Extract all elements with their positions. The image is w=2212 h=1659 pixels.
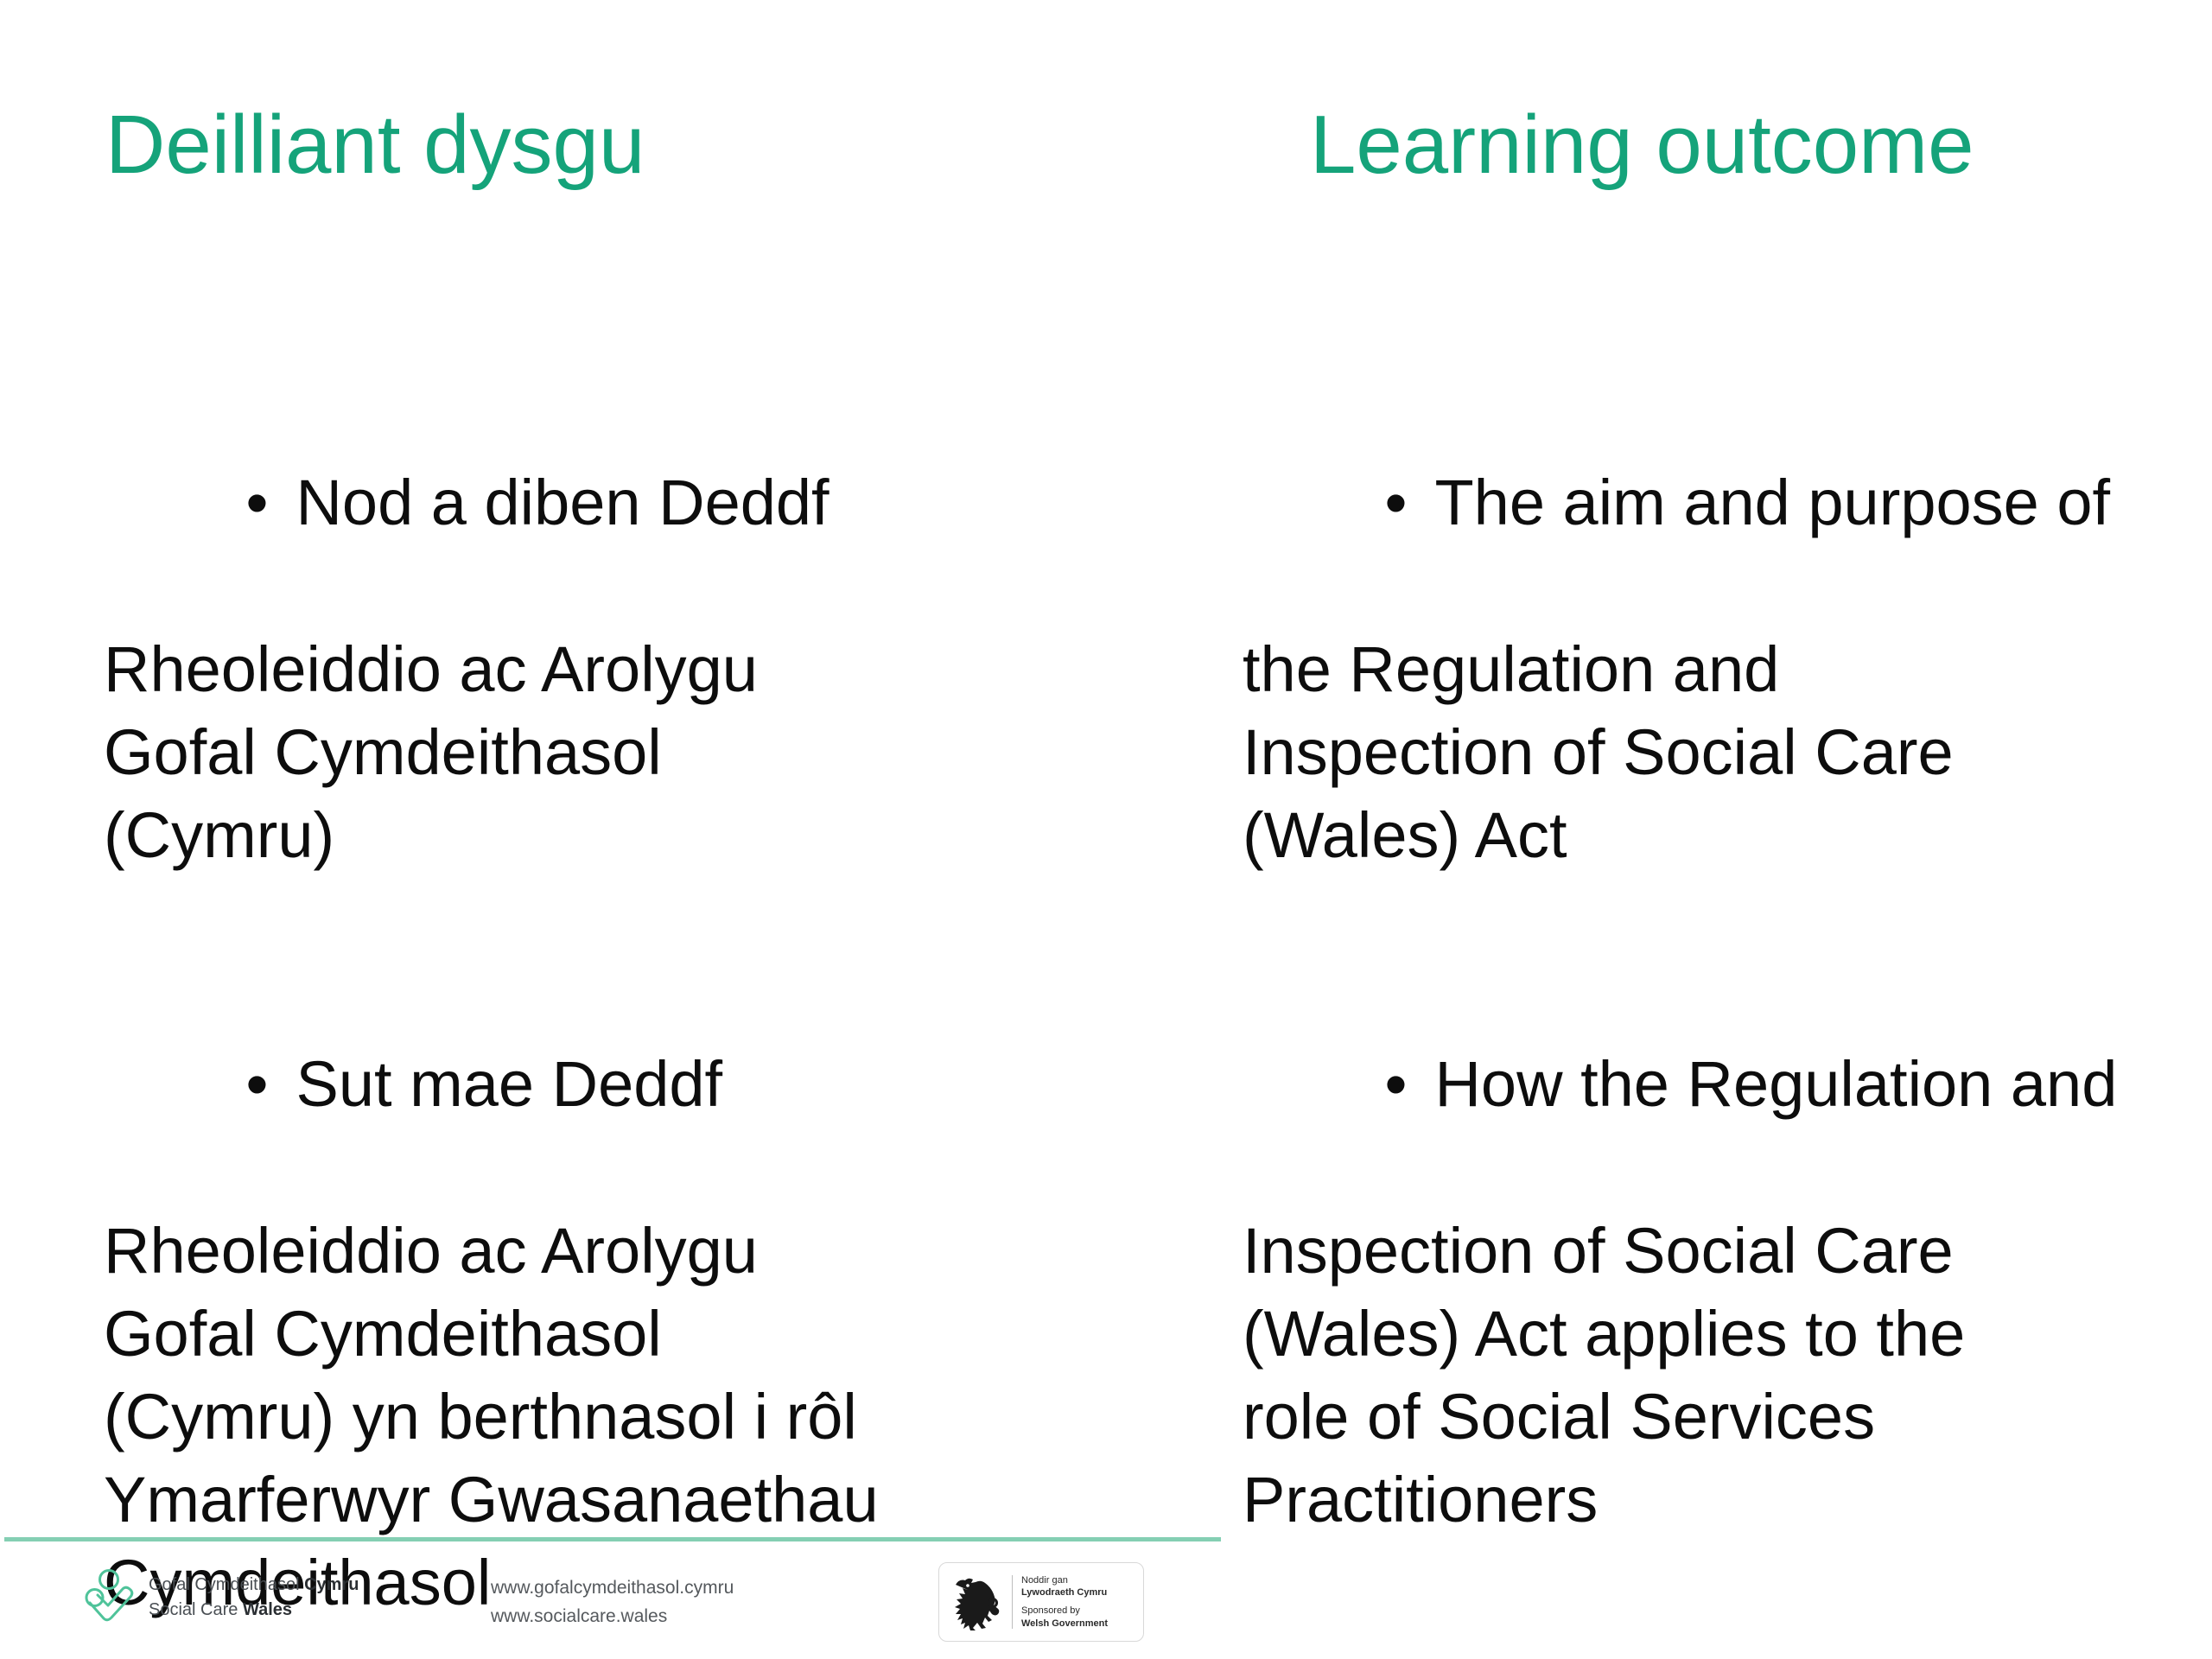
list-item-line: Inspection of Social Care <box>1243 1215 1954 1287</box>
logo-english-name: Social Care <box>149 1600 243 1619</box>
list-item-line: Gofal Cymdeithasol <box>104 1298 662 1370</box>
wg-line-1: Noddir gan <box>1021 1574 1108 1587</box>
wg-line-3: Sponsored by <box>1021 1605 1108 1618</box>
list-item-line: Inspection of Social Care <box>1243 716 1954 788</box>
list-item: •Sut mae Deddf Rheoleiddio ac Arolygu Go… <box>104 960 1097 1625</box>
list-item-line: Rheoleiddio ac Arolygu <box>104 1215 758 1287</box>
list-item-line: Practitioners <box>1243 1464 1598 1535</box>
list-item-line: (Cymru) yn berthnasol i rôl <box>104 1381 857 1452</box>
welsh-government-logo: Noddir gan Lywodraeth Cymru Sponsored by… <box>938 1562 1144 1642</box>
list-item-line: How the Regulation and <box>1434 1048 2117 1120</box>
list-item-line: Gofal Cymdeithasol <box>104 716 662 788</box>
logo-welsh-name-bold: Cymru <box>304 1575 359 1594</box>
page-title-welsh: Deilliant dysgu <box>105 102 645 189</box>
list-item-line: Rheoleiddio ac Arolygu <box>104 633 758 705</box>
welsh-dragon-icon <box>946 1571 1010 1633</box>
page-title-english: Learning outcome <box>1310 102 1974 189</box>
list-item-line: Ymarferwyr Gwasanaethau <box>104 1464 879 1535</box>
list-item-line: Nod a diben Deddf <box>296 467 829 538</box>
list-item-line: role of Social Services <box>1243 1381 1875 1452</box>
logo-divider <box>1012 1575 1013 1629</box>
wg-line-2: Lywodraeth Cymru <box>1021 1587 1107 1598</box>
content-column-english: •The aim and purpose of the Regulation a… <box>1243 378 2158 1541</box>
wg-line-4: Welsh Government <box>1021 1618 1108 1629</box>
bullet-marker-icon: • <box>1384 1043 1434 1126</box>
logo-welsh-name: Gofal Cymdeithasol <box>149 1575 304 1594</box>
list-item-line: Sut mae Deddf <box>296 1048 722 1120</box>
social-care-wales-mark-icon <box>83 1568 137 1627</box>
list-item-line: The aim and purpose of <box>1434 467 2110 538</box>
list-item-line: (Wales) Act <box>1243 799 1567 871</box>
list-item: •Nod a diben Deddf Rheoleiddio ac Arolyg… <box>104 378 1097 877</box>
social-care-wales-wordmark: Gofal Cymdeithasol Cymru Social Care Wal… <box>149 1573 359 1623</box>
list-item: •How the Regulation and Inspection of So… <box>1243 960 2158 1541</box>
bullet-marker-icon: • <box>245 1043 296 1126</box>
bullet-marker-icon: • <box>245 461 296 544</box>
logo-english-name-bold: Wales <box>243 1600 292 1619</box>
bullet-marker-icon: • <box>1384 461 1434 544</box>
slide: Deilliant dysgu Learning outcome •Nod a … <box>0 0 2212 1659</box>
footer-divider <box>4 1537 1221 1541</box>
list-item-line: (Cymru) <box>104 799 334 871</box>
list-item-line: (Wales) Act applies to the <box>1243 1298 1965 1370</box>
footer: Gofal Cymdeithasol Cymru Social Care Wal… <box>0 1555 2212 1659</box>
list-item: •The aim and purpose of the Regulation a… <box>1243 378 2158 877</box>
url-english[interactable]: www.socialcare.wales <box>491 1603 734 1631</box>
footer-urls: www.gofalcymdeithasol.cymru www.socialca… <box>491 1574 734 1630</box>
url-welsh[interactable]: www.gofalcymdeithasol.cymru <box>491 1574 734 1603</box>
content-column-welsh: •Nod a diben Deddf Rheoleiddio ac Arolyg… <box>104 378 1097 1625</box>
social-care-wales-logo: Gofal Cymdeithasol Cymru Social Care Wal… <box>83 1568 359 1627</box>
welsh-government-text: Noddir gan Lywodraeth Cymru Sponsored by… <box>1021 1574 1108 1630</box>
list-item-line: the Regulation and <box>1243 633 1779 705</box>
